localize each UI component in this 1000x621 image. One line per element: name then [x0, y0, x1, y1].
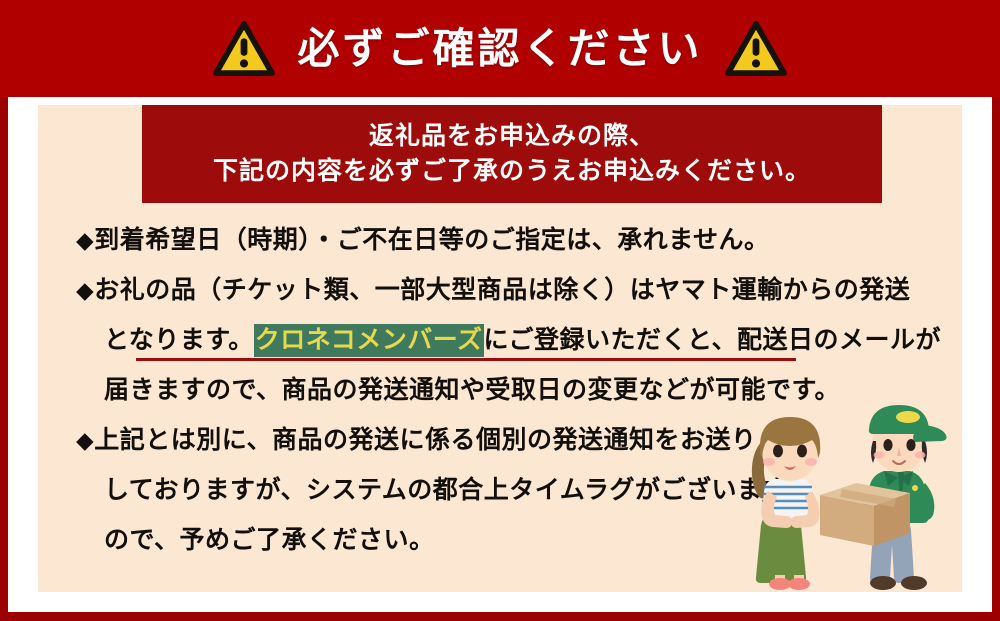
- note-text: 届きますので、商品の発送通知や受取日の変更などが可能です。: [104, 376, 840, 404]
- note-text: しておりますが、システムの都合上タイムラグがございます: [104, 476, 788, 504]
- notice-banner: 返礼品をお申込みの際、 下記の内容を必ずご了承のうえお申込みください。: [142, 105, 882, 203]
- note-text-pre: となります。: [104, 326, 254, 354]
- delivery-handover-illustration: [732, 367, 962, 592]
- note-item: ◆到着希望日（時期）・ご不在日等のご指定は、承れません。: [76, 215, 926, 265]
- warning-triangle-icon: [725, 21, 787, 77]
- kuroneko-members-highlight: クロネコメンバーズ: [254, 324, 484, 357]
- parcel-box: [820, 483, 910, 546]
- note-text: お礼の品（チケット類、一部大型商品は除く）はヤマト運輸からの発送: [94, 276, 910, 304]
- notice-frame: 必ずご確認ください 返礼品をお申込みの際、 下記の内容を必ずご了承のうえお申込み…: [0, 0, 1000, 621]
- woman-figure: [752, 417, 820, 590]
- note-item: ◆お礼の品（チケット類、一部大型商品は除く）はヤマト運輸からの発送: [76, 265, 926, 315]
- warning-triangle-icon: [213, 21, 275, 77]
- note-text: 上記とは別に、商品の発送に係る個別の発送通知をお送り: [94, 426, 756, 454]
- header-band: 必ずご確認ください: [0, 0, 1000, 97]
- content-panel: 返礼品をお申込みの際、 下記の内容を必ずご了承のうえお申込みください。 ◆到着希…: [38, 105, 962, 592]
- note-text: 到着希望日（時期）・ご不在日等のご指定は、承れません。: [94, 226, 769, 254]
- banner-line-1: 返礼品をお申込みの際、: [369, 119, 655, 155]
- bullet-diamond-icon: ◆: [76, 227, 94, 253]
- note-text: ので、予めご了承ください。: [104, 526, 435, 554]
- emphasis-underline: [136, 358, 796, 361]
- page-title: 必ずご確認ください: [297, 28, 702, 70]
- bullet-diamond-icon: ◆: [76, 277, 94, 303]
- note-text-post: にご登録いただくと、配送日のメールが: [484, 326, 942, 354]
- bullet-diamond-icon: ◆: [76, 427, 94, 453]
- banner-line-2: 下記の内容を必ずご了承のうえお申込みください。: [213, 154, 811, 190]
